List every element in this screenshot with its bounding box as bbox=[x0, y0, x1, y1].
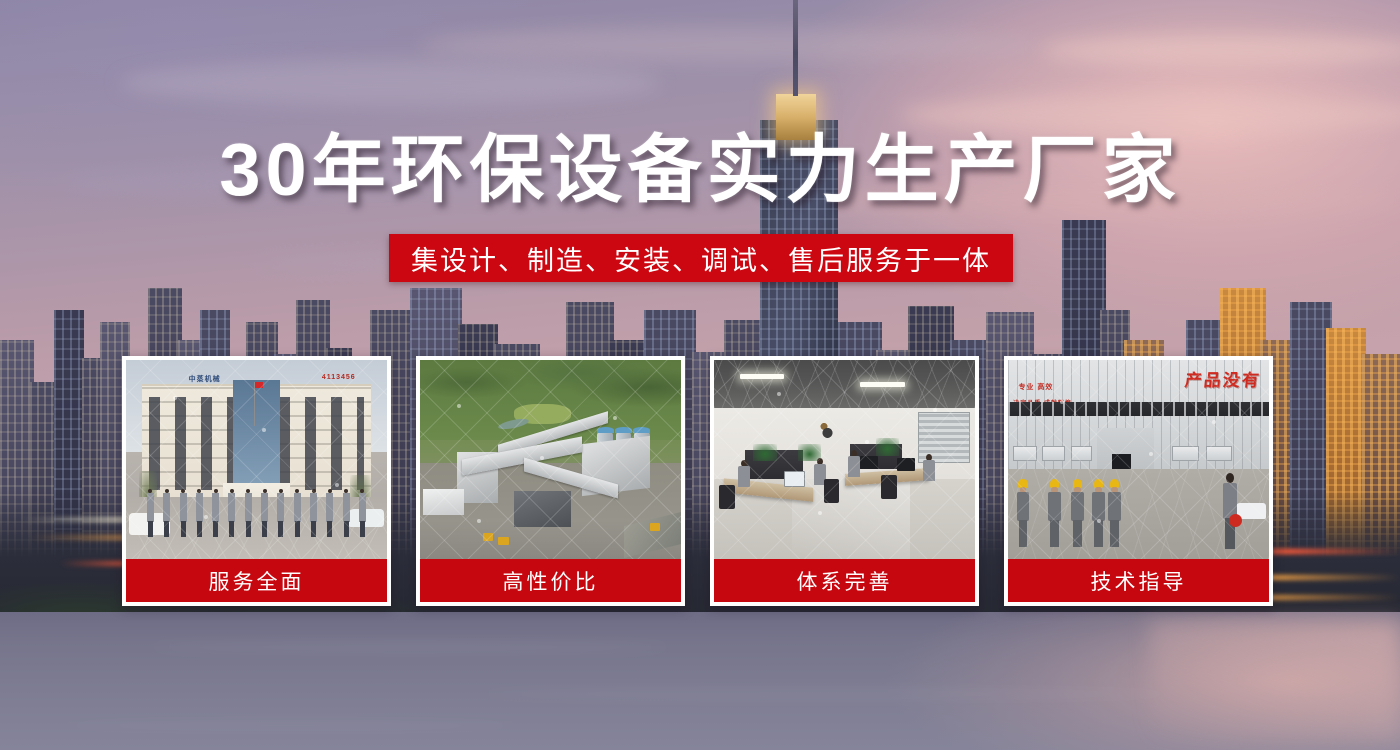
monitor bbox=[860, 456, 878, 470]
office-worker bbox=[923, 454, 936, 482]
laptop bbox=[784, 471, 805, 487]
red-helmet bbox=[1229, 514, 1242, 527]
potted-plant bbox=[876, 438, 899, 456]
hero-banner: 30年环保设备实力生产厂家 集设计、制造、安装、调试、售后服务于一体 中蒸机械 … bbox=[0, 0, 1400, 750]
banner-subtitle-text: 集设计、制造、安装、调试、售后服务于一体 bbox=[411, 239, 991, 278]
water-streak bbox=[480, 690, 1180, 698]
feature-card-value[interactable]: 高性价比 bbox=[416, 356, 685, 606]
factory-worker bbox=[1092, 479, 1106, 547]
factory-worker bbox=[1047, 479, 1061, 547]
feature-card-caption: 技术指导 bbox=[1008, 559, 1269, 602]
potted-plant bbox=[753, 444, 776, 462]
feature-card-caption: 体系完善 bbox=[714, 559, 975, 602]
building-sign-text: 中蒸机械 bbox=[189, 374, 221, 384]
feature-card-system[interactable]: 体系完善 bbox=[710, 356, 979, 606]
factory-slogan-text: 产品没有 bbox=[1184, 366, 1263, 391]
banner-headline: 30年环保设备实力生产厂家 bbox=[0, 133, 1400, 207]
monitor bbox=[897, 458, 915, 472]
feature-card-row: 中蒸机械 4113456 bbox=[122, 356, 1278, 606]
wall-decal bbox=[813, 416, 842, 442]
office-worker bbox=[737, 460, 750, 488]
staff-lineup bbox=[147, 489, 366, 537]
water-reflection-pink bbox=[1150, 620, 1400, 740]
company-office-building-photo: 中蒸机械 4113456 bbox=[126, 360, 387, 559]
tower-spire bbox=[793, 0, 798, 96]
plant-shed bbox=[514, 491, 571, 527]
water-streak bbox=[60, 722, 520, 729]
factory-worker bbox=[1071, 479, 1085, 547]
banner-subtitle-bar: 集设计、制造、安装、调试、售后服务于一体 bbox=[389, 234, 1013, 282]
office-worker bbox=[847, 450, 860, 478]
ceiling-light bbox=[740, 374, 784, 379]
feature-card-caption: 高性价比 bbox=[420, 559, 681, 602]
excavator bbox=[498, 537, 508, 545]
warehouse bbox=[423, 489, 465, 515]
water-streak bbox=[150, 642, 670, 652]
feature-card-caption: 服务全面 bbox=[126, 559, 387, 602]
river-water bbox=[0, 612, 1400, 750]
excavator bbox=[650, 523, 660, 531]
ceiling-light bbox=[860, 382, 904, 387]
factory-workers-photo: 产品没有 专业 高效 决定品质 成就辉煌 bbox=[1008, 360, 1269, 559]
office-interior-photo bbox=[714, 360, 975, 559]
industrial-plant-aerial-photo bbox=[420, 360, 681, 559]
factory-worker bbox=[1016, 479, 1030, 547]
office-chair bbox=[881, 475, 897, 499]
building-phone-text: 4113456 bbox=[322, 374, 356, 381]
feature-card-service[interactable]: 中蒸机械 4113456 bbox=[122, 356, 391, 606]
office-chair bbox=[824, 479, 840, 503]
excavator bbox=[483, 533, 493, 541]
factory-slogan-small-one: 专业 高效 bbox=[1018, 382, 1053, 392]
technical-instructor bbox=[1222, 473, 1238, 549]
feature-card-guidance[interactable]: 产品没有 专业 高效 决定品质 成就辉煌 bbox=[1004, 356, 1273, 606]
factory-worker bbox=[1107, 479, 1121, 547]
office-chair bbox=[719, 485, 735, 509]
